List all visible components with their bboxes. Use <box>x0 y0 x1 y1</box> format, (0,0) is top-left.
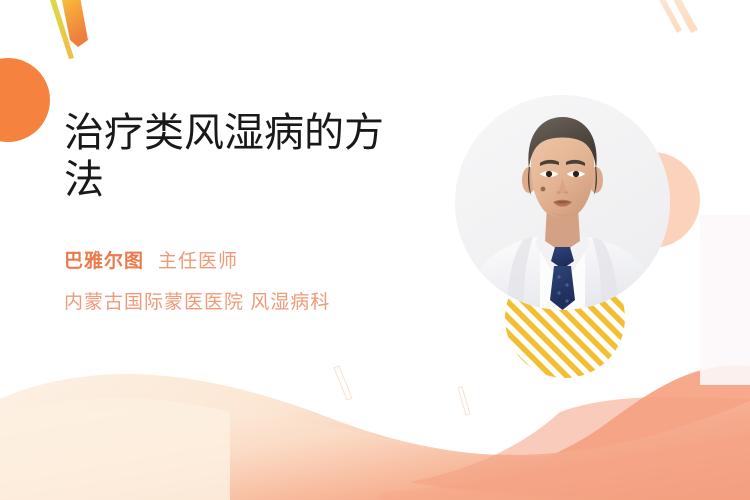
wave-highlight-blob <box>410 397 750 500</box>
right-panel-tint <box>700 215 750 385</box>
doctor-portrait <box>455 95 670 310</box>
pupil-right <box>573 171 579 177</box>
doctor-byline: 巴雅尔图主任医师 <box>64 246 404 273</box>
bottom-faint-stripe-1 <box>334 366 352 400</box>
doctor-name: 巴雅尔图 <box>64 251 144 272</box>
doctor-title: 主任医师 <box>158 251 238 272</box>
doctor-portrait-illustration <box>455 95 670 310</box>
bottom-faint-stripe-2 <box>458 387 470 415</box>
cheek-mole <box>541 187 546 192</box>
wave-fade-left <box>0 398 230 500</box>
video-cover-card: 治疗类风湿病的方法 巴雅尔图主任医师 内蒙古国际蒙医医院 风湿病科 <box>0 0 750 500</box>
left-orange-circle <box>0 58 50 142</box>
pupil-left <box>546 171 552 177</box>
text-block: 治疗类风湿病的方法 巴雅尔图主任医师 内蒙古国际蒙医医院 风湿病科 <box>64 110 404 314</box>
page-title: 治疗类风湿病的方法 <box>64 110 400 204</box>
doctor-affiliation: 内蒙古国际蒙医医院 风湿病科 <box>64 287 404 314</box>
